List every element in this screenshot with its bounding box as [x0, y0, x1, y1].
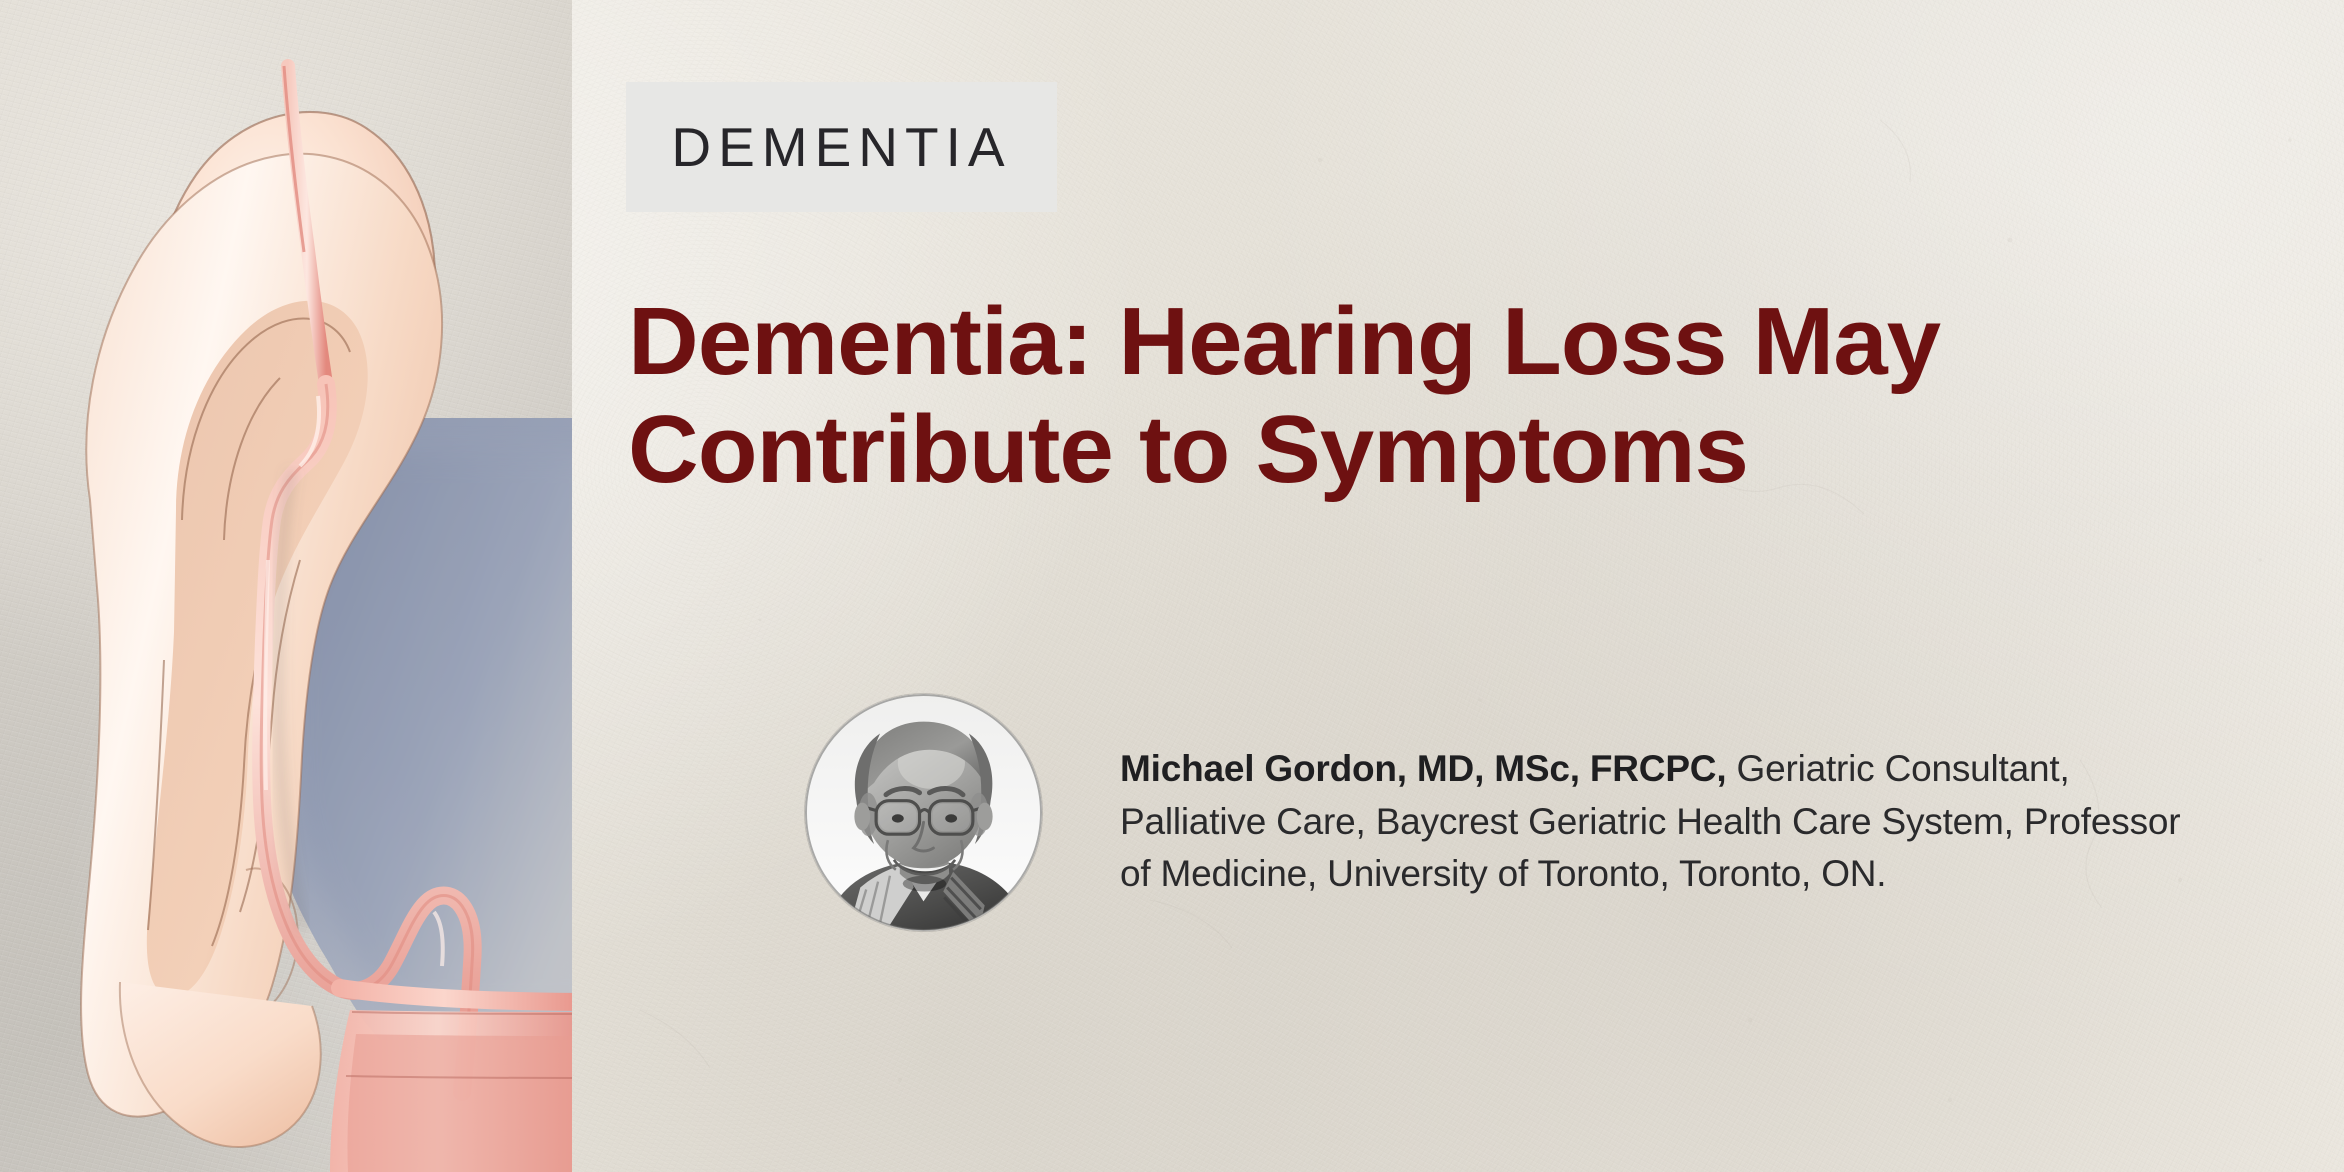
author-block: Michael Gordon, MD, MSc, FRCPC, Geriatri…: [805, 694, 2185, 938]
title-line-1: Dementia: Hearing Loss May: [628, 288, 2321, 396]
author-byline: Michael Gordon, MD, MSc, FRCPC, Geriatri…: [1120, 731, 2185, 901]
category-tag[interactable]: DEMENTIA: [626, 82, 1057, 212]
ear-illustration-panel: [0, 0, 572, 1172]
author-name: Michael Gordon, MD, MSc, FRCPC,: [1120, 748, 1726, 789]
author-portrait-image: [805, 694, 1042, 931]
title-line-2: Contribute to Symptoms: [628, 396, 2321, 504]
article-hero-card: DEMENTIA Dementia: Hearing Loss May Cont…: [0, 0, 2344, 1172]
ear-anatomy-icon: [0, 0, 572, 1172]
page-title: Dementia: Hearing Loss May Contribute to…: [628, 288, 2321, 505]
avatar: [805, 694, 1042, 931]
category-label: DEMENTIA: [671, 120, 1011, 175]
